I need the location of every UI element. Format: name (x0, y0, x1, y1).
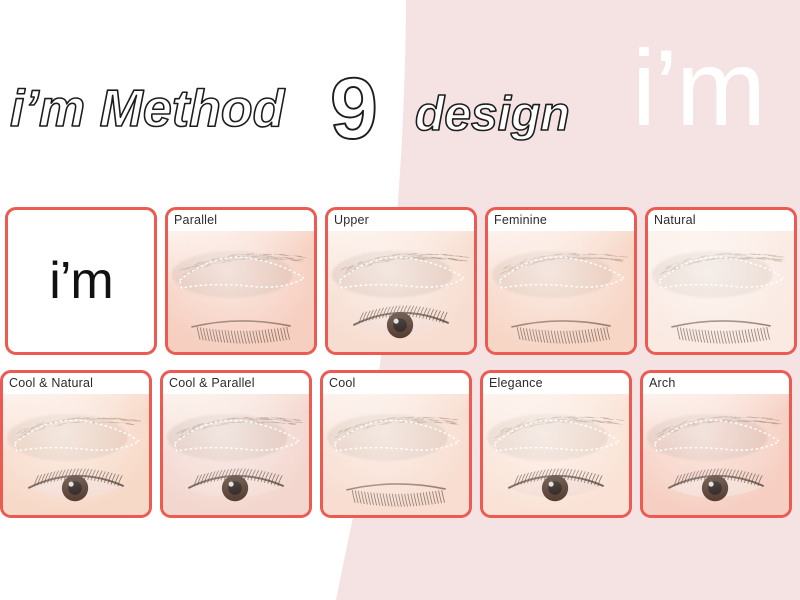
design-card-elegance[interactable]: Elegance (480, 370, 632, 518)
design-card-cool-natural[interactable]: Cool & Natural (0, 370, 152, 518)
design-card-upper[interactable]: Upper (325, 207, 477, 355)
eyebrow-photo (323, 394, 469, 515)
design-card-label: Cool & Parallel (163, 373, 309, 394)
eyebrow-photo (483, 394, 629, 515)
design-card-natural[interactable]: Natural (645, 207, 797, 355)
brand-logo-text: i’m (49, 251, 112, 311)
design-card-cool-parallel[interactable]: Cool & Parallel (160, 370, 312, 518)
design-card-label: Arch (643, 373, 789, 394)
design-card-label: Elegance (483, 373, 629, 394)
design-card-parallel[interactable]: Parallel (165, 207, 317, 355)
eyebrow-photo (168, 231, 314, 352)
design-card-arch[interactable]: Arch (640, 370, 792, 518)
design-card-label: Natural (648, 210, 794, 231)
design-card-grid: i’mParallel Upper (0, 0, 800, 600)
eyebrow-photo (488, 231, 634, 352)
eyebrow-photo (328, 231, 474, 352)
design-card-feminine[interactable]: Feminine (485, 207, 637, 355)
design-card-label: Upper (328, 210, 474, 231)
eyebrow-photo (3, 394, 149, 515)
eyebrow-photo (643, 394, 789, 515)
eyebrow-photo (163, 394, 309, 515)
brand-logo-card[interactable]: i’m (5, 207, 157, 355)
eyebrow-photo (648, 231, 794, 352)
design-card-label: Cool (323, 373, 469, 394)
design-card-label: Cool & Natural (3, 373, 149, 394)
design-card-cool[interactable]: Cool (320, 370, 472, 518)
design-card-label: Parallel (168, 210, 314, 231)
design-card-label: Feminine (488, 210, 634, 231)
